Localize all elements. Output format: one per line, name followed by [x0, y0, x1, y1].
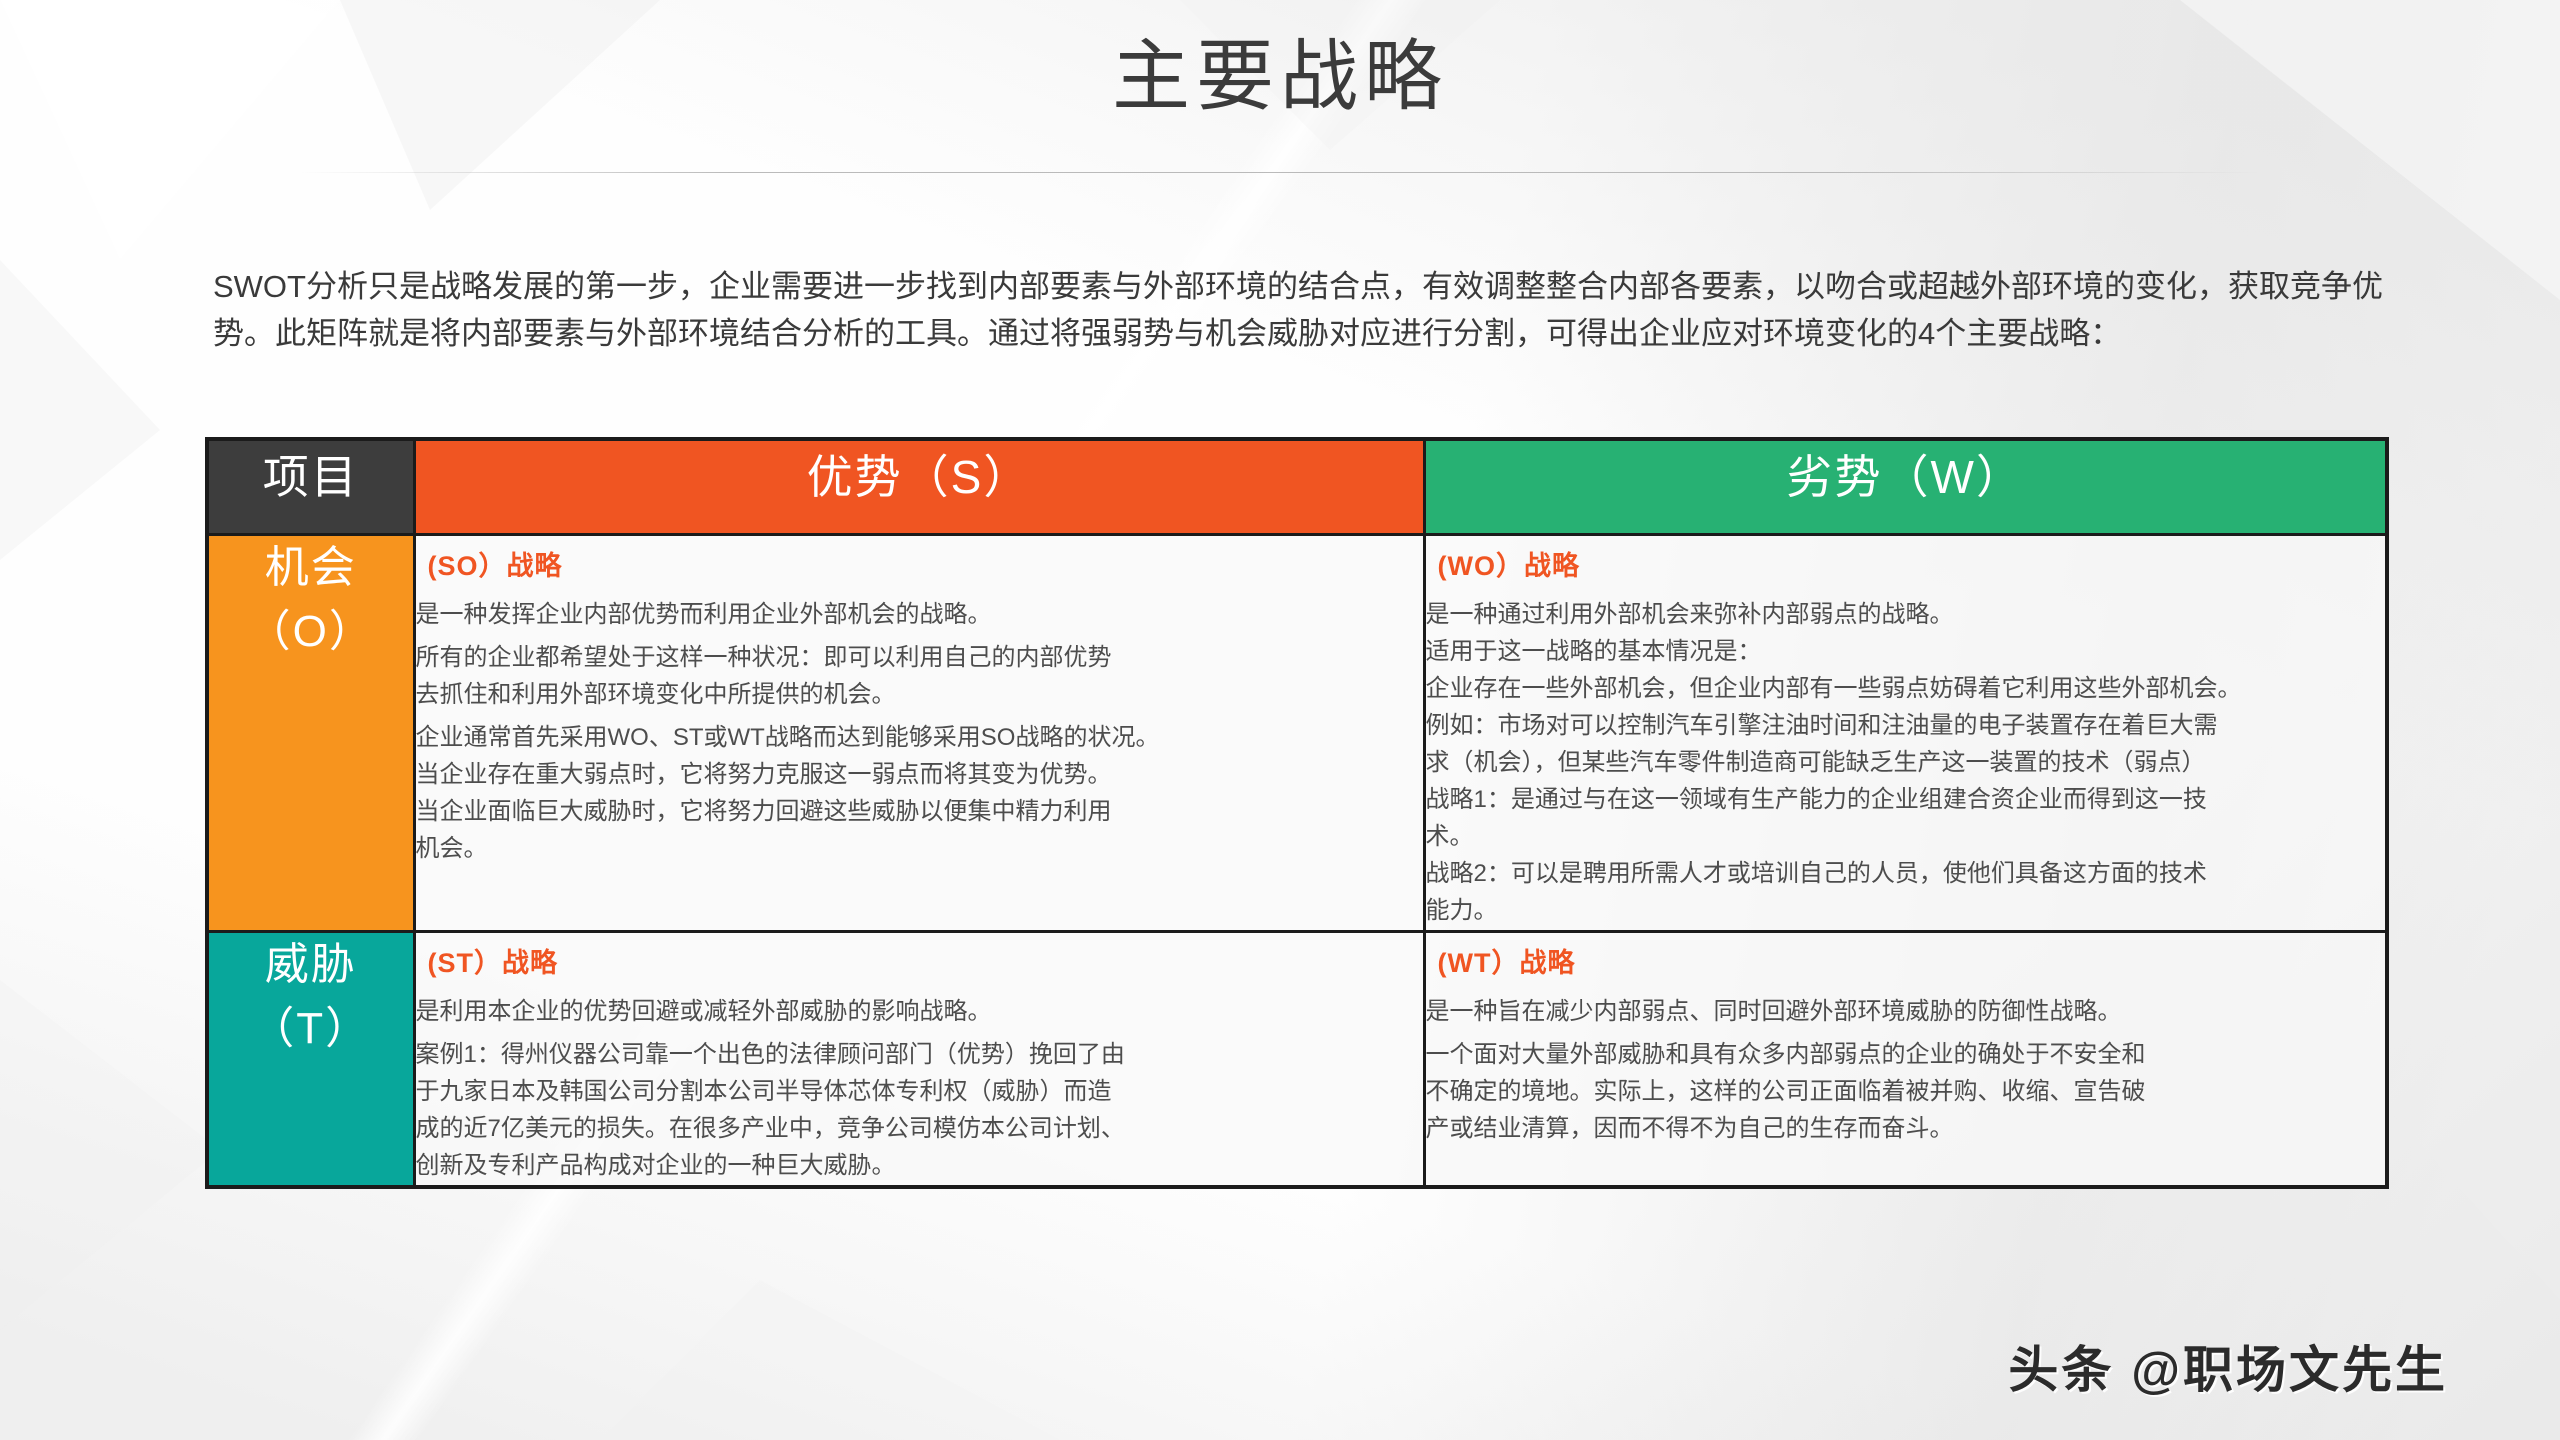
- row-header-opportunity: 机会 （O）: [207, 535, 414, 932]
- matrix-row-opportunity: 机会 （O） (SO）战略 是一种发挥企业内部优势而利用企业外部机会的战略。 所…: [207, 535, 2387, 932]
- so-strategy-label: (SO）战略: [428, 544, 1423, 583]
- header-cell-weaknesses: 劣势（W）: [1424, 439, 2387, 535]
- cell-wo-strategy: (WO）战略 是一种通过利用外部机会来弥补内部弱点的战略。 适用于这一战略的基本…: [1424, 535, 2387, 932]
- st-line: 案例1：得州仪器公司靠一个出色的法律顾问部门（优势）挽回了由: [416, 1037, 1423, 1072]
- so-line: 是一种发挥企业内部优势而利用企业外部机会的战略。: [416, 597, 1423, 632]
- wo-strategy-label: (WO）战略: [1438, 544, 2386, 583]
- header-cell-strengths: 优势（S）: [414, 439, 1424, 535]
- st-line: 成的近7亿美元的损失。在很多产业中，竞争公司模仿本公司计划、: [416, 1111, 1423, 1146]
- cell-wt-strategy: (WT）战略 是一种旨在减少内部弱点、同时回避外部环境威胁的防御性战略。 一个面…: [1424, 932, 2387, 1188]
- wo-line: 战略2：可以是聘用所需人才或培训自己的人员，使他们具备这方面的技术: [1426, 856, 2386, 891]
- title-divider: [300, 172, 2260, 173]
- st-line: 是利用本企业的优势回避或减轻外部威胁的影响战略。: [416, 994, 1423, 1029]
- wo-line: 适用于这一战略的基本情况是：: [1426, 634, 2386, 669]
- watermark-text: 头条 @职场文先生: [2008, 1330, 2448, 1402]
- slide-page: 主要战略 SWOT分析只是战略发展的第一步，企业需要进一步找到内部要素与外部环境…: [0, 0, 2560, 1440]
- wo-line: 求（机会），但某些汽车零件制造商可能缺乏生产这一装置的技术（弱点）: [1426, 745, 2386, 780]
- wo-line: 例如：市场对可以控制汽车引擎注油时间和注油量的电子装置存在着巨大需: [1426, 708, 2386, 743]
- row-header-threat-line2: （T）: [209, 997, 413, 1061]
- wo-line: 是一种通过利用外部机会来弥补内部弱点的战略。: [1426, 597, 2386, 632]
- header-cell-item: 项目: [207, 439, 414, 535]
- st-line: 于九家日本及韩国公司分割本公司半导体芯体专利权（威胁）而造: [416, 1074, 1423, 1109]
- wo-line: 企业存在一些外部机会，但企业内部有一些弱点妨碍着它利用这些外部机会。: [1426, 671, 2386, 706]
- so-line: 当企业存在重大弱点时，它将努力克服这一弱点而将其变为优势。: [416, 757, 1423, 792]
- cell-st-strategy: (ST）战略 是利用本企业的优势回避或减轻外部威胁的影响战略。 案例1：得州仪器…: [414, 932, 1424, 1188]
- so-line: 当企业面临巨大威胁时，它将努力回避这些威胁以便集中精力利用: [416, 794, 1423, 829]
- so-line: 去抓住和利用外部环境变化中所提供的机会。: [416, 677, 1423, 712]
- row-header-threat: 威胁 （T）: [207, 932, 414, 1188]
- row-header-opportunity-line1: 机会: [209, 536, 413, 600]
- wt-line: 是一种旨在减少内部弱点、同时回避外部环境威胁的防御性战略。: [1426, 994, 2386, 1029]
- row-header-opportunity-line2: （O）: [209, 600, 413, 664]
- page-title: 主要战略: [0, 34, 2560, 118]
- wo-line: 战略1：是通过与在这一领域有生产能力的企业组建合资企业而得到这一技: [1426, 782, 2386, 817]
- matrix-header-row: 项目 优势（S） 劣势（W）: [207, 439, 2387, 535]
- matrix-row-threat: 威胁 （T） (ST）战略 是利用本企业的优势回避或减轻外部威胁的影响战略。 案…: [207, 932, 2387, 1188]
- intro-paragraph: SWOT分析只是战略发展的第一步，企业需要进一步找到内部要素与外部环境的结合点，…: [213, 263, 2385, 357]
- wt-strategy-label: (WT）战略: [1438, 941, 2386, 980]
- swot-strategy-matrix: 项目 优势（S） 劣势（W） 机会 （O） (SO）战略 是一种发挥企业内部优势…: [205, 437, 2389, 1189]
- so-line: 机会。: [416, 831, 1423, 866]
- row-header-threat-line1: 威胁: [209, 933, 413, 997]
- page-title-container: 主要战略: [0, 34, 2560, 118]
- cell-so-strategy: (SO）战略 是一种发挥企业内部优势而利用企业外部机会的战略。 所有的企业都希望…: [414, 535, 1424, 932]
- so-line: 所有的企业都希望处于这样一种状况：即可以利用自己的内部优势: [416, 640, 1423, 675]
- st-strategy-label: (ST）战略: [428, 941, 1423, 980]
- so-line: 企业通常首先采用WO、ST或WT战略而达到能够采用SO战略的状况。: [416, 720, 1423, 755]
- wt-line: 不确定的境地。实际上，这样的公司正面临着被并购、收缩、宣告破: [1426, 1074, 2386, 1109]
- wo-line: 能力。: [1426, 893, 2386, 928]
- st-line: 创新及专利产品构成对企业的一种巨大威胁。: [416, 1148, 1423, 1183]
- wt-line: 一个面对大量外部威胁和具有众多内部弱点的企业的确处于不安全和: [1426, 1037, 2386, 1072]
- wt-line: 产或结业清算，因而不得不为自己的生存而奋斗。: [1426, 1111, 2386, 1146]
- wo-line: 术。: [1426, 819, 2386, 854]
